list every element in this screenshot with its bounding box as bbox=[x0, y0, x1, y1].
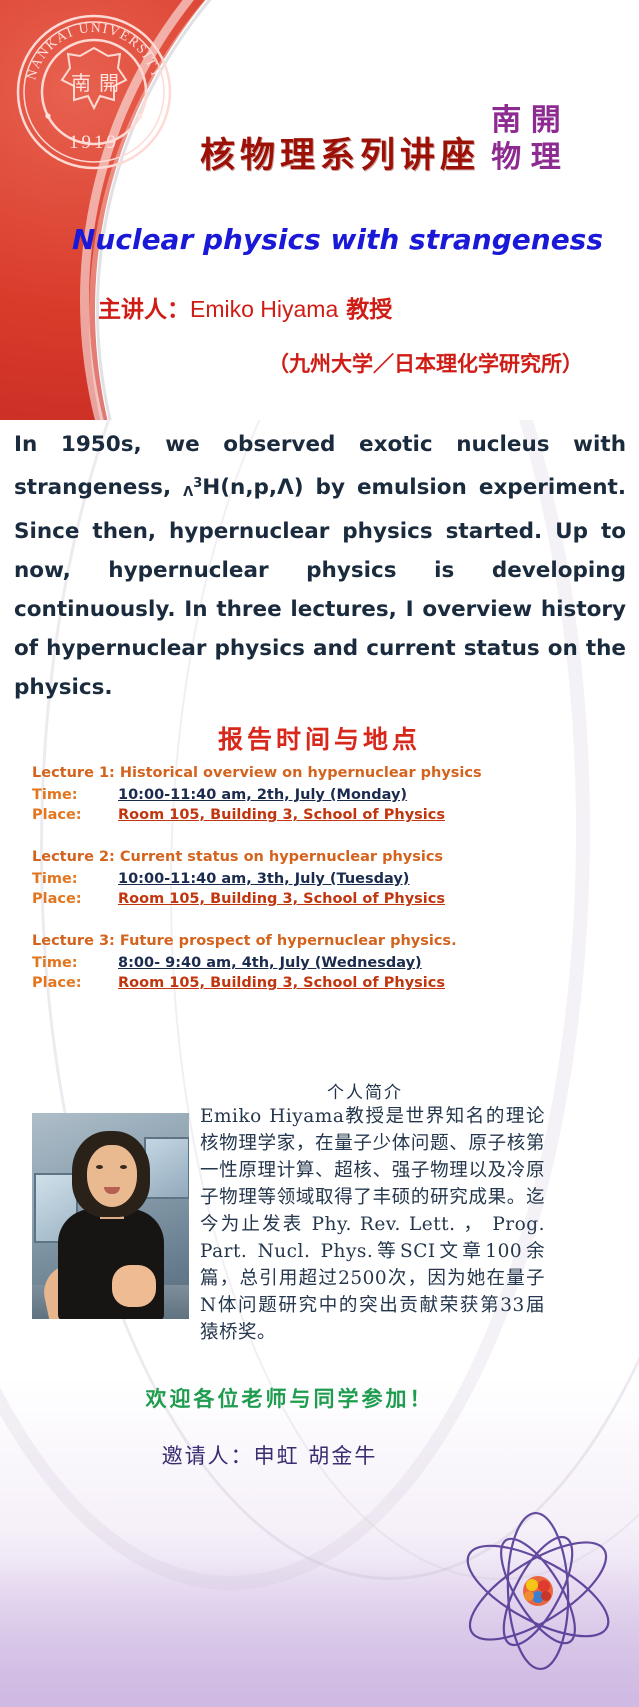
bio-text: Emiko Hiyama教授是世界知名的理论核物理学家，在量子少体问题、原子核第… bbox=[200, 1103, 545, 1346]
svg-text:1919: 1919 bbox=[69, 132, 119, 153]
page-title-chinese: 核物理系列讲座 bbox=[200, 127, 480, 178]
atom-icon bbox=[443, 1491, 633, 1691]
speaker-rank: 教授 bbox=[346, 296, 392, 323]
lecture-title: Lecture 1: Historical overview on hypern… bbox=[32, 765, 592, 781]
place-label: Place: bbox=[32, 807, 118, 823]
photo-face bbox=[87, 1145, 137, 1207]
lecture-time-row: Time: 10:00-11:40 am, 3th, July (Tuesday… bbox=[32, 871, 592, 887]
speaker-affiliation: （九州大学／日本理化学研究所） bbox=[268, 348, 583, 378]
university-seal-logo: NANKAI UNIVERSITY 南 開 1919 bbox=[14, 12, 174, 172]
organizer-line: 邀请人：申虹 胡金牛 bbox=[0, 1440, 639, 1470]
page-title-english: Nuclear physics with strangeness bbox=[72, 223, 603, 256]
lecture-title: Lecture 2: Current status on hypernuclea… bbox=[32, 849, 592, 865]
time-value: 8:00- 9:40 am, 4th, July (Wednesday) bbox=[118, 955, 422, 971]
lecture-place-row: Place: Room 105, Building 3, School of P… bbox=[32, 807, 592, 823]
photo-hand bbox=[112, 1265, 156, 1307]
time-value: 10:00-11:40 am, 3th, July (Tuesday) bbox=[118, 871, 409, 887]
nankai-physics-seal-logo: 南 開 物 理 bbox=[487, 104, 565, 176]
lecture-time-row: Time: 8:00- 9:40 am, 4th, July (Wednesda… bbox=[32, 955, 592, 971]
speaker-name: Emiko Hiyama bbox=[190, 296, 338, 322]
place-value: Room 105, Building 3, School of Physics bbox=[118, 975, 445, 991]
speaker-line: 主讲人：Emiko Hiyama 教授 bbox=[98, 290, 392, 324]
time-value: 10:00-11:40 am, 2th, July (Monday) bbox=[118, 787, 407, 803]
time-label: Time: bbox=[32, 955, 118, 971]
place-label: Place: bbox=[32, 891, 118, 907]
seal-char-li: 理 bbox=[527, 141, 566, 177]
abstract-part-2: H(n,p,Λ) by emulsion experiment. Since t… bbox=[14, 475, 626, 700]
seal-char-kai: 開 bbox=[527, 104, 566, 140]
abstract-text: In 1950s, we observed exotic nucleus wit… bbox=[14, 425, 626, 707]
speaker-label: 主讲人： bbox=[98, 296, 190, 323]
lecture-title: Lecture 3: Future prospect of hypernucle… bbox=[32, 933, 592, 949]
seal-char-nan: 南 bbox=[487, 104, 526, 140]
time-label: Time: bbox=[32, 787, 118, 803]
place-value: Room 105, Building 3, School of Physics bbox=[118, 891, 445, 907]
mass-number-superscript: 3 bbox=[193, 476, 202, 491]
schedule-list: Lecture 1: Historical overview on hypern… bbox=[32, 765, 592, 1017]
lecture-place-row: Place: Room 105, Building 3, School of P… bbox=[32, 975, 592, 991]
lecture-block: Lecture 3: Future prospect of hypernucle… bbox=[32, 933, 592, 991]
bio-heading: 个人简介 bbox=[200, 1078, 530, 1103]
svg-text:NANKAI UNIVERSITY: NANKAI UNIVERSITY bbox=[23, 20, 164, 81]
speaker-photo bbox=[32, 1113, 189, 1319]
lecture-block: Lecture 1: Historical overview on hypern… bbox=[32, 765, 592, 823]
svg-text:開: 開 bbox=[99, 71, 119, 95]
photo-eye-left bbox=[96, 1165, 103, 1169]
seal-char-wu: 物 bbox=[487, 141, 526, 177]
place-value: Room 105, Building 3, School of Physics bbox=[118, 807, 445, 823]
lecture-block: Lecture 2: Current status on hypernuclea… bbox=[32, 849, 592, 907]
lambda-subscript: Λ bbox=[183, 485, 193, 500]
time-label: Time: bbox=[32, 871, 118, 887]
welcome-message: 欢迎各位老师与同学参加！ bbox=[0, 1383, 639, 1413]
place-label: Place: bbox=[32, 975, 118, 991]
photo-eye-right bbox=[120, 1165, 127, 1169]
poster-root: NANKAI UNIVERSITY 南 開 1919 核物理系列讲座 南 開 物… bbox=[0, 0, 639, 1707]
svg-text:南: 南 bbox=[71, 71, 91, 95]
schedule-heading: 报告时间与地点 bbox=[0, 720, 639, 756]
photo-monitor-right bbox=[144, 1137, 189, 1199]
lecture-place-row: Place: Room 105, Building 3, School of P… bbox=[32, 891, 592, 907]
lecture-time-row: Time: 10:00-11:40 am, 2th, July (Monday) bbox=[32, 787, 592, 803]
